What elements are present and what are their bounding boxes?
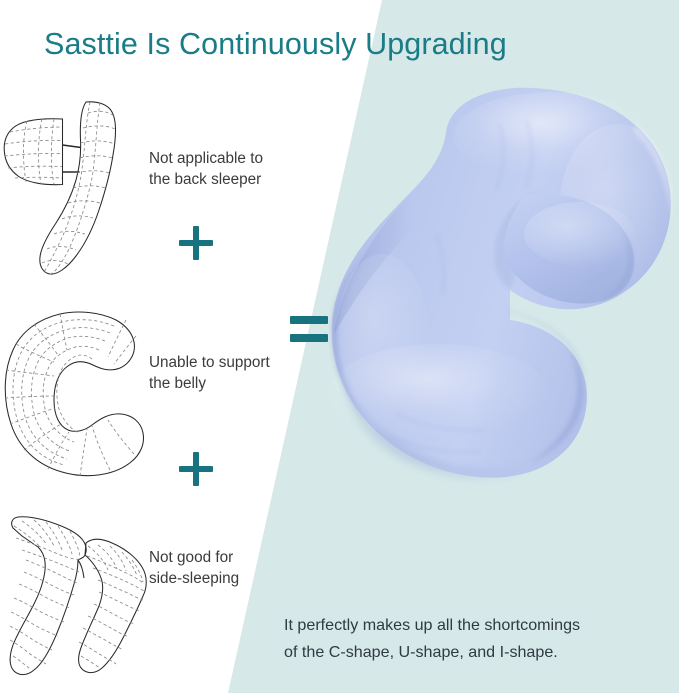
- promo-image: Sasttie Is Continuously Upgrading: [0, 0, 679, 693]
- drawback-label-2: Unable to support the belly: [149, 352, 299, 394]
- result-caption: It perfectly makes up all the shortcomin…: [284, 612, 664, 666]
- drawback-label-1: Not applicable to the back sleeper: [149, 148, 299, 190]
- page-title: Sasttie Is Continuously Upgrading: [44, 27, 507, 62]
- g-shape-pregnancy-pillow-photo: [318, 84, 679, 614]
- drawback-label-3: Not good for side-sleeping: [149, 547, 299, 589]
- j-shape-pillow-sketch: [2, 88, 150, 290]
- plus-operator-2: [179, 452, 213, 486]
- c-shape-pillow-sketch: [4, 302, 150, 480]
- equals-operator: [290, 312, 328, 346]
- u-shape-pillow-sketch: [0, 498, 160, 693]
- plus-operator-1: [179, 226, 213, 260]
